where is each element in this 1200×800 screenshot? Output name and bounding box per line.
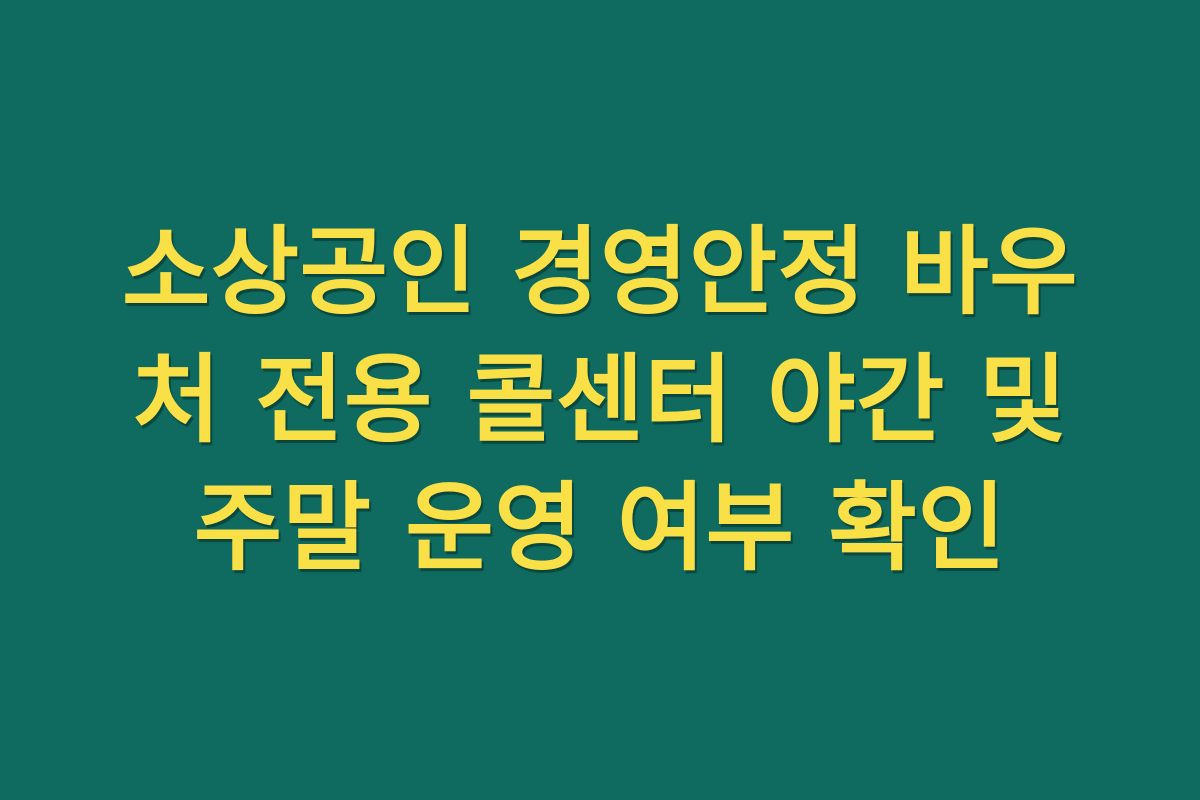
headline-block: 소상공인 경영안정 바우 처 전용 콜센터 야간 및 주말 운영 여부 확인 — [70, 208, 1130, 592]
headline-line-3: 주말 운영 여부 확인 — [70, 464, 1130, 592]
text-banner: 소상공인 경영안정 바우 처 전용 콜센터 야간 및 주말 운영 여부 확인 — [0, 0, 1200, 800]
headline-line-1: 소상공인 경영안정 바우 — [70, 208, 1130, 336]
headline-line-2: 처 전용 콜센터 야간 및 — [70, 336, 1130, 464]
